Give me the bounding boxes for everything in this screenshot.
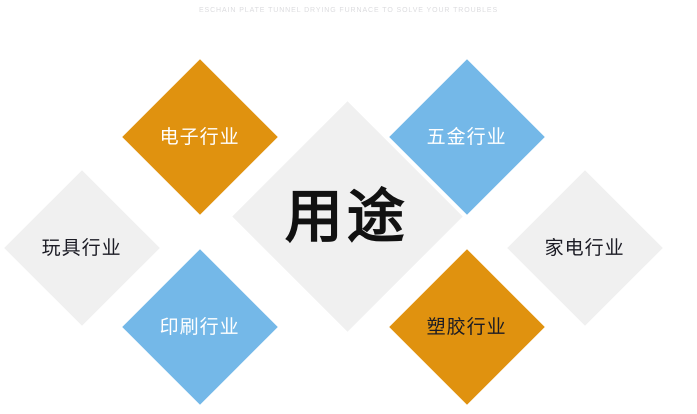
diamond-appliance[interactable]: 家电行业	[507, 170, 663, 326]
diamond-printing[interactable]: 印刷行业	[122, 249, 278, 405]
diamond-toys[interactable]: 玩具行业	[4, 170, 160, 326]
diamond-grid: 玩具行业 电子行业 印刷行业 五金行业 塑胶行业 家电行业 用途	[0, 20, 697, 414]
diamond-plastic[interactable]: 塑胶行业	[389, 249, 545, 405]
diamond-label-hardware: 五金行业	[427, 127, 507, 146]
header-tagline: ESCHAIN PLATE TUNNEL DRYING FURNACE TO S…	[199, 7, 498, 14]
header-strip: ESCHAIN PLATE TUNNEL DRYING FURNACE TO S…	[0, 0, 697, 20]
diamond-label-center: 用途	[285, 187, 409, 245]
promo-graphic: ESCHAIN PLATE TUNNEL DRYING FURNACE TO S…	[0, 0, 697, 414]
diamond-label-plastic: 塑胶行业	[427, 317, 507, 336]
diamond-electronics[interactable]: 电子行业	[122, 59, 278, 215]
diamond-label-toys: 玩具行业	[42, 238, 122, 257]
diamond-label-electronics: 电子行业	[160, 127, 240, 146]
diamond-label-appliance: 家电行业	[545, 238, 625, 257]
diamond-label-printing: 印刷行业	[160, 317, 240, 336]
